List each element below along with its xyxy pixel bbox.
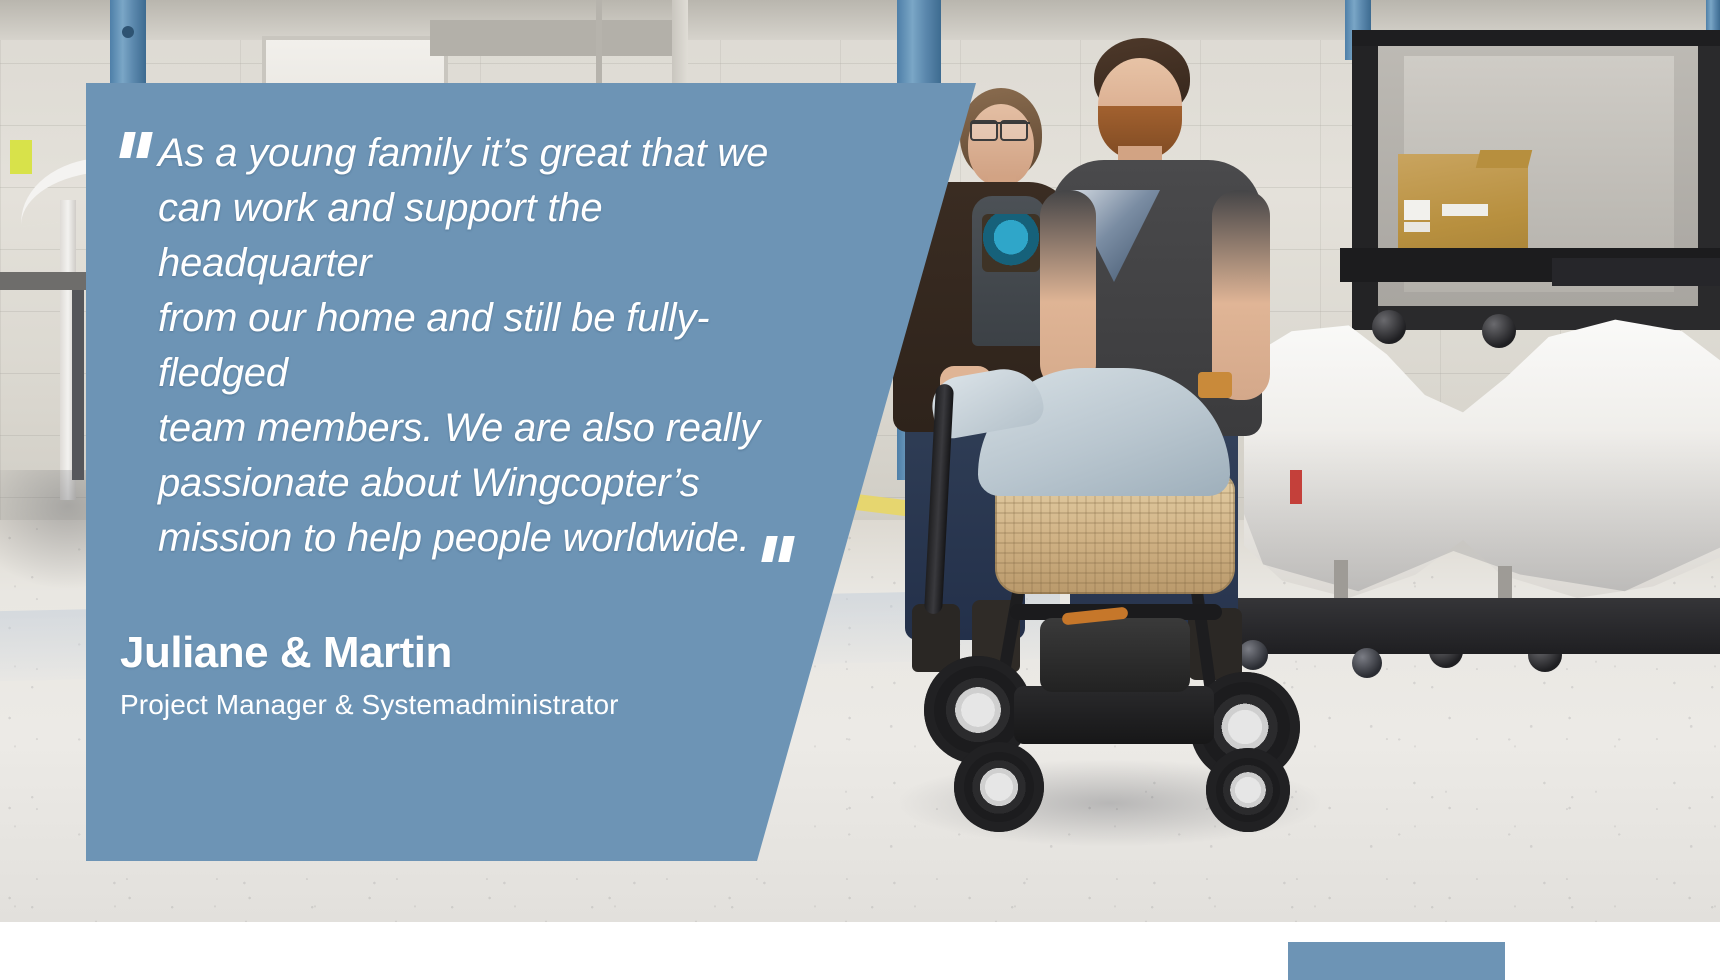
man-belt-tool xyxy=(1198,372,1232,398)
man-arm-left xyxy=(1040,190,1096,390)
workbench-leg xyxy=(72,290,84,480)
cardboard-box-flap xyxy=(1476,150,1532,168)
accent-bar xyxy=(1288,942,1505,980)
box-shipping-label xyxy=(1404,200,1430,220)
rack-caster-wheel xyxy=(1352,648,1382,678)
man-arm-right xyxy=(1212,190,1270,400)
quote-line-4: team members. We are also really xyxy=(158,406,760,450)
woman-face xyxy=(968,104,1034,186)
rack-caster-wheel xyxy=(1238,640,1268,670)
woman-shirt-graphic xyxy=(982,214,1040,272)
attribution-block: Juliane & Martin Project Manager & Syste… xyxy=(120,625,760,723)
rack-frame-top xyxy=(1352,30,1720,46)
quote-line-3: from our home and still be fully-fledged xyxy=(158,296,709,395)
close-quote-icon xyxy=(762,536,798,562)
quote-line-1: As a young family it’s great that we xyxy=(158,131,768,175)
quote-line-5: passionate about Wingcopter’s xyxy=(158,461,700,505)
drone-red-marker xyxy=(1290,470,1302,504)
open-quote-icon xyxy=(120,132,154,158)
quote-line-2: can work and support the headquarter xyxy=(158,186,602,285)
pram-wheel xyxy=(954,742,1044,832)
attribution-name: Juliane & Martin xyxy=(120,625,760,681)
woman-glasses-bridge xyxy=(972,122,1030,140)
rack-frame-left xyxy=(1352,30,1378,330)
testimonial-card: As a young family it’s great that we can… xyxy=(0,0,1720,980)
wall-lintel xyxy=(430,20,680,56)
column-bolt-hole xyxy=(122,26,134,38)
yellow-marker xyxy=(10,140,32,174)
pram-wheel xyxy=(1206,748,1290,832)
box-model-label xyxy=(1442,204,1488,216)
attribution-role: Project Manager & Systemadministrator xyxy=(120,687,760,723)
rack-base xyxy=(1226,598,1720,654)
pram-bag xyxy=(1040,618,1190,692)
quote-line-6: mission to help people worldwide. xyxy=(158,516,750,560)
quote-text: As a young family it’s great that we can… xyxy=(120,126,810,566)
pram-under-tray xyxy=(1014,686,1214,744)
quote-block: As a young family it’s great that we can… xyxy=(120,126,810,566)
rack-dark-equipment xyxy=(1552,258,1720,286)
box-barcode xyxy=(1404,222,1430,232)
drone-motor xyxy=(1372,310,1406,344)
drone-motor xyxy=(1482,314,1516,348)
